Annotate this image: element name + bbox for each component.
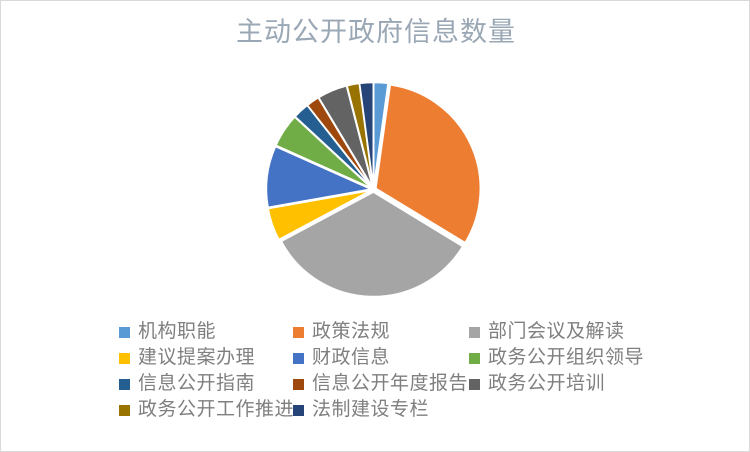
legend-item[interactable]: 机构职能 [119,319,216,345]
legend-color-swatch-icon [469,379,480,390]
legend-item[interactable]: 政务公开工作推进 [119,397,294,423]
legend-item[interactable]: 部门会议及解读 [469,319,625,345]
legend-color-swatch-icon [119,379,130,390]
legend-item[interactable]: 信息公开年度报告 [293,371,468,397]
legend-color-swatch-icon [293,379,304,390]
legend-item[interactable]: 信息公开指南 [119,371,255,397]
pie-slice-group [266,82,480,296]
legend-item[interactable]: 法制建设专栏 [293,397,429,423]
legend-row: 建议提案办理财政信息政务公开组织领导 [1,345,750,371]
legend-color-swatch-icon [119,327,130,338]
legend-color-swatch-icon [119,405,130,416]
legend-color-swatch-icon [469,327,480,338]
legend-color-swatch-icon [293,353,304,364]
chart-container: 主动公开政府信息数量 机构职能政策法规部门会议及解读建议提案办理财政信息政务公开… [0,0,750,452]
chart-title: 主动公开政府信息数量 [1,15,750,49]
legend-item[interactable]: 政务公开组织领导 [469,345,644,371]
pie-chart-plot-area [269,85,478,294]
legend-item-label: 信息公开指南 [138,372,255,396]
legend-item-label: 法制建设专栏 [312,398,429,422]
legend-item-label: 政策法规 [312,320,390,344]
legend-row: 政务公开工作推进法制建设专栏 [1,397,750,423]
legend-item-label: 政务公开培训 [488,372,605,396]
legend-item-label: 建议提案办理 [138,346,255,370]
legend-item-label: 机构职能 [138,320,216,344]
legend-row: 机构职能政策法规部门会议及解读 [1,319,750,345]
legend-row: 信息公开指南信息公开年度报告政务公开培训 [1,371,750,397]
legend-item-label: 政务公开组织领导 [488,346,644,370]
legend-item[interactable]: 政策法规 [293,319,390,345]
legend-item-label: 政务公开工作推进 [138,398,294,422]
legend-color-swatch-icon [293,327,304,338]
legend-item[interactable]: 建议提案办理 [119,345,255,371]
legend-item-label: 财政信息 [312,346,390,370]
pie-chart-svg [269,85,478,294]
legend-item-label: 部门会议及解读 [488,320,625,344]
legend-item-label: 信息公开年度报告 [312,372,468,396]
legend-item[interactable]: 政务公开培训 [469,371,605,397]
chart-legend: 机构职能政策法规部门会议及解读建议提案办理财政信息政务公开组织领导信息公开指南信… [1,319,750,445]
legend-item[interactable]: 财政信息 [293,345,390,371]
legend-color-swatch-icon [293,405,304,416]
legend-color-swatch-icon [469,353,480,364]
legend-color-swatch-icon [119,353,130,364]
